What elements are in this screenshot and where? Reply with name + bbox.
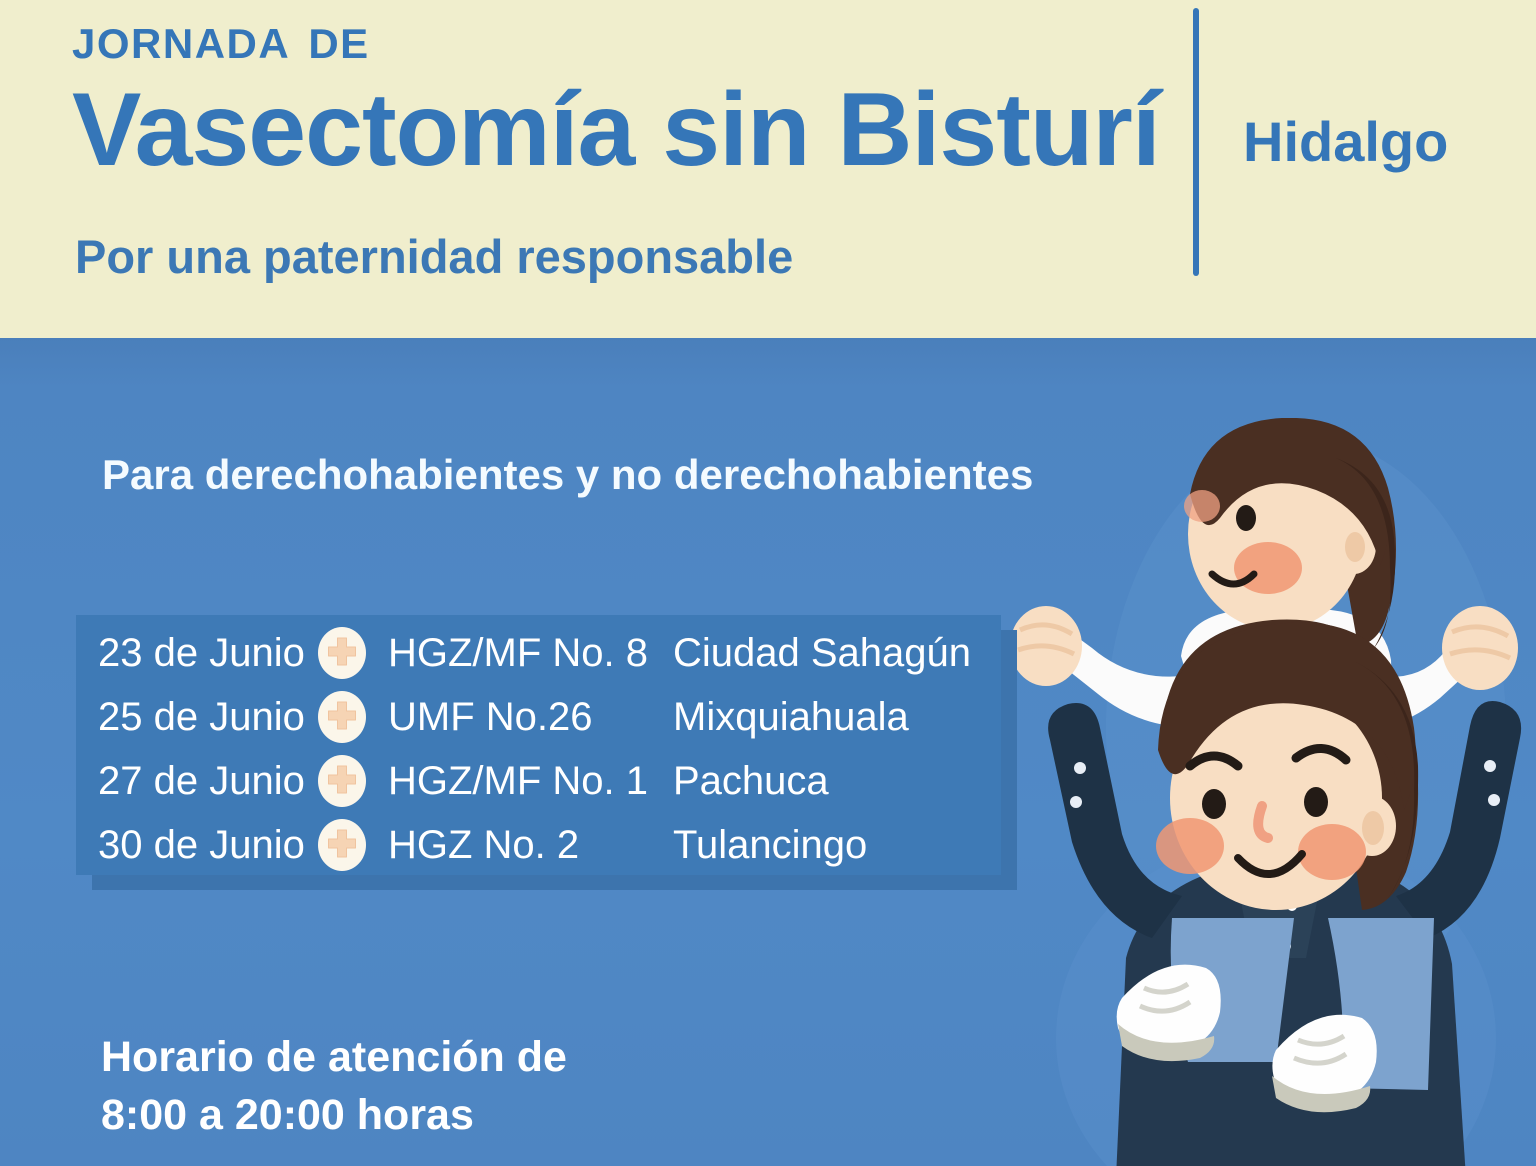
medical-cross-icon <box>318 819 366 871</box>
kicker-text: Jornada de <box>72 6 370 70</box>
schedule-city: Ciudad Sahagún <box>673 630 971 676</box>
medical-cross-icon <box>318 627 366 679</box>
schedule-date: 25 de Junio <box>98 694 326 740</box>
hours-text: Horario de atención de 8:00 a 20:00 hora… <box>101 1028 567 1144</box>
schedule-date: 23 de Junio <box>98 630 326 676</box>
hours-line-2: 8:00 a 20:00 horas <box>101 1086 567 1144</box>
table-row: 23 de Junio HGZ/MF No. 8 Ciudad Sahagún <box>76 621 1001 685</box>
main-body-panel: Para derechohabientes y no derechohabien… <box>0 338 1536 1166</box>
tagline-text: Por una paternidad responsable <box>75 230 793 284</box>
header-band: Jornada de Vasectomía sin Bisturí Por un… <box>0 0 1536 338</box>
schedule-date: 27 de Junio <box>98 758 326 804</box>
schedule-unit: HGZ No. 2 <box>388 822 673 868</box>
audience-text: Para derechohabientes y no derechohabien… <box>102 450 1033 500</box>
page-title: Vasectomía sin Bisturí <box>72 74 1160 186</box>
table-row: 25 de Junio UMF No.26 Mixquiahuala <box>76 685 1001 749</box>
medical-cross-icon <box>318 691 366 743</box>
vertical-divider <box>1193 8 1199 276</box>
schedule-box: 23 de Junio HGZ/MF No. 8 Ciudad Sahagún … <box>76 615 1001 875</box>
schedule-city: Mixquiahuala <box>673 694 909 740</box>
table-row: 30 de Junio HGZ No. 2 Tulancingo <box>76 813 1001 877</box>
hours-line-1: Horario de atención de <box>101 1028 567 1086</box>
schedule-unit: HGZ/MF No. 8 <box>388 630 673 676</box>
table-row: 27 de Junio HGZ/MF No. 1 Pachuca <box>76 749 1001 813</box>
state-name: Hidalgo <box>1243 112 1448 172</box>
schedule-unit: UMF No.26 <box>388 694 673 740</box>
schedule-date: 30 de Junio <box>98 822 326 868</box>
father-carrying-child-on-shoulders-illustration <box>976 398 1536 1166</box>
medical-cross-icon <box>318 755 366 807</box>
header-text-group: Jornada de Vasectomía sin Bisturí Por un… <box>72 0 1172 338</box>
schedule-city: Pachuca <box>673 758 829 804</box>
schedule-unit: HGZ/MF No. 1 <box>388 758 673 804</box>
schedule-city: Tulancingo <box>673 822 867 868</box>
poster: Jornada de Vasectomía sin Bisturí Por un… <box>0 0 1536 1166</box>
